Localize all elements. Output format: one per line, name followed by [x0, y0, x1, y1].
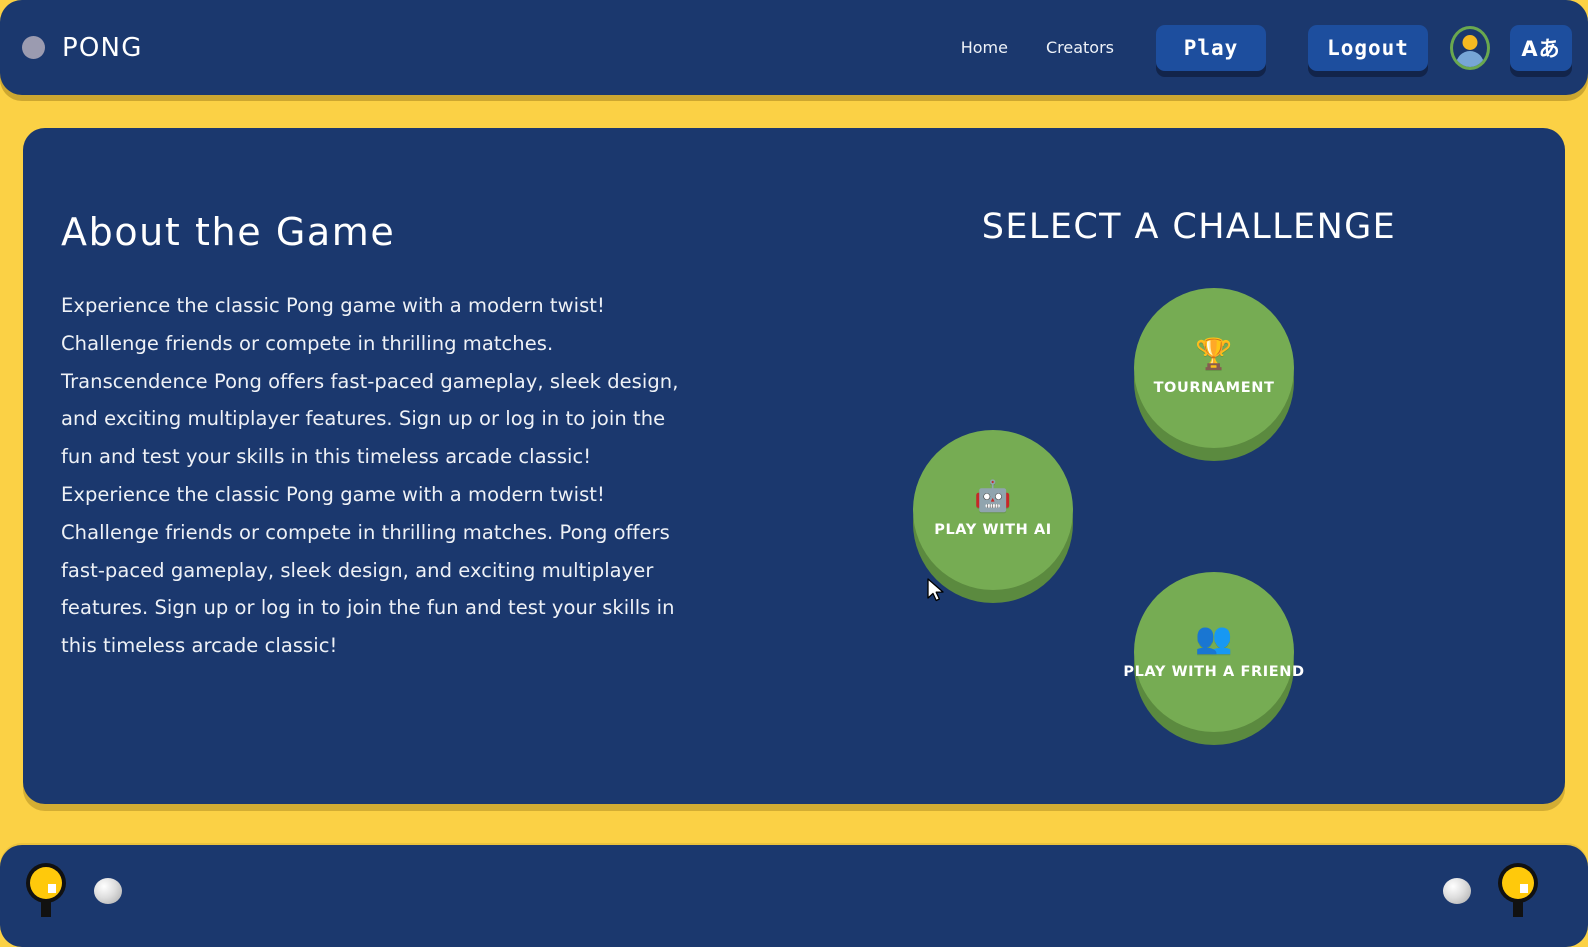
challenge-option-play-with-a-friend[interactable]: 👥 PLAY WITH A FRIEND — [1134, 572, 1294, 732]
user-avatar-icon[interactable] — [1450, 26, 1490, 70]
trophy-icon: 🏆 — [1195, 340, 1232, 370]
challenge-option-label: PLAY WITH AI — [934, 522, 1052, 538]
lamp-bulb-shape — [30, 867, 62, 899]
play-button[interactable]: Play — [1156, 25, 1266, 71]
logout-button[interactable]: Logout — [1308, 25, 1428, 71]
lamp-glint-shape — [1520, 884, 1528, 893]
header-nav: Home Creators Play Logout Aあ — [961, 25, 1572, 71]
lamp-icon — [24, 863, 68, 919]
about-paragraph: Experience the classic Pong game with a … — [61, 287, 701, 665]
nav-link-home[interactable]: Home — [961, 38, 1008, 57]
lamp-stem-shape — [1513, 899, 1523, 917]
nav-link-creators[interactable]: Creators — [1046, 38, 1114, 57]
challenge-heading: SELECT A CHALLENGE — [853, 210, 1525, 245]
challenge-option-tournament[interactable]: 🏆 TOURNAMENT — [1134, 288, 1294, 448]
challenge-option-label: PLAY WITH A FRIEND — [1123, 664, 1304, 680]
robot-icon: 🤖 — [974, 482, 1011, 512]
page-title: About the Game — [61, 213, 701, 251]
language-switch-button[interactable]: Aあ — [1510, 25, 1572, 71]
lamp-icon — [1496, 863, 1540, 919]
two-people-icon: 👥 — [1195, 624, 1232, 654]
avatar-head-shape — [1463, 35, 1478, 50]
pong-ball-icon — [1443, 878, 1471, 904]
brand-logo[interactable]: PONG — [22, 33, 143, 63]
challenge-section: SELECT A CHALLENGE 🏆 TOURNAMENT 🤖 PLAY W… — [853, 210, 1525, 770]
lamp-glint-shape — [48, 884, 56, 893]
pong-ball-icon — [94, 878, 122, 904]
main-content-panel: About the Game Experience the classic Po… — [23, 128, 1565, 804]
lamp-stem-shape — [41, 899, 51, 917]
avatar-body-shape — [1456, 51, 1484, 67]
bottom-footer-bar — [0, 845, 1588, 947]
top-header-bar: PONG Home Creators Play Logout Aあ — [0, 0, 1588, 95]
lamp-bulb-shape — [1502, 867, 1534, 899]
pong-ball-icon — [22, 36, 45, 59]
brand-title: PONG — [62, 33, 143, 63]
about-section: About the Game Experience the classic Po… — [61, 213, 701, 684]
challenge-option-play-with-ai[interactable]: 🤖 PLAY WITH AI — [913, 430, 1073, 590]
challenge-option-label: TOURNAMENT — [1154, 380, 1275, 396]
